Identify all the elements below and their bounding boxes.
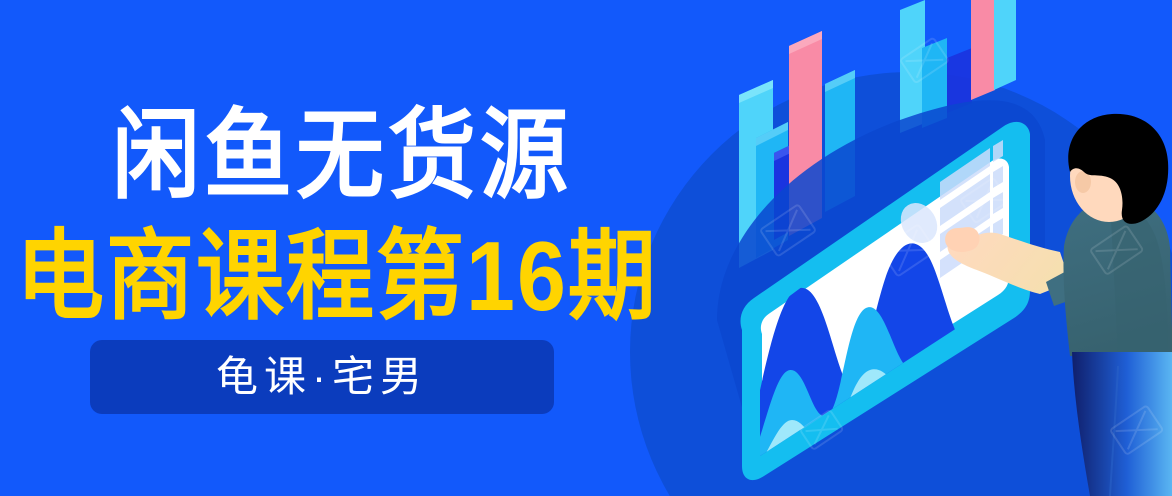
person-pants: [1072, 352, 1172, 496]
promo-banner: 闲鱼无货源 电商课程第16期 龟课·宅男: [0, 0, 1172, 496]
headline-line-1: 闲鱼无货源: [112, 97, 572, 213]
subtitle-text: 龟课·宅男: [216, 354, 428, 400]
headline-line-2: 电商课程第16期: [16, 218, 658, 334]
bar-r5: [994, 0, 1016, 90]
subtitle-badge: 龟课·宅男: [90, 340, 554, 414]
text-block: 闲鱼无货源 电商课程第16期 龟课·宅男: [0, 0, 740, 496]
bar-r4: [971, 0, 995, 100]
person-hand: [945, 227, 979, 252]
